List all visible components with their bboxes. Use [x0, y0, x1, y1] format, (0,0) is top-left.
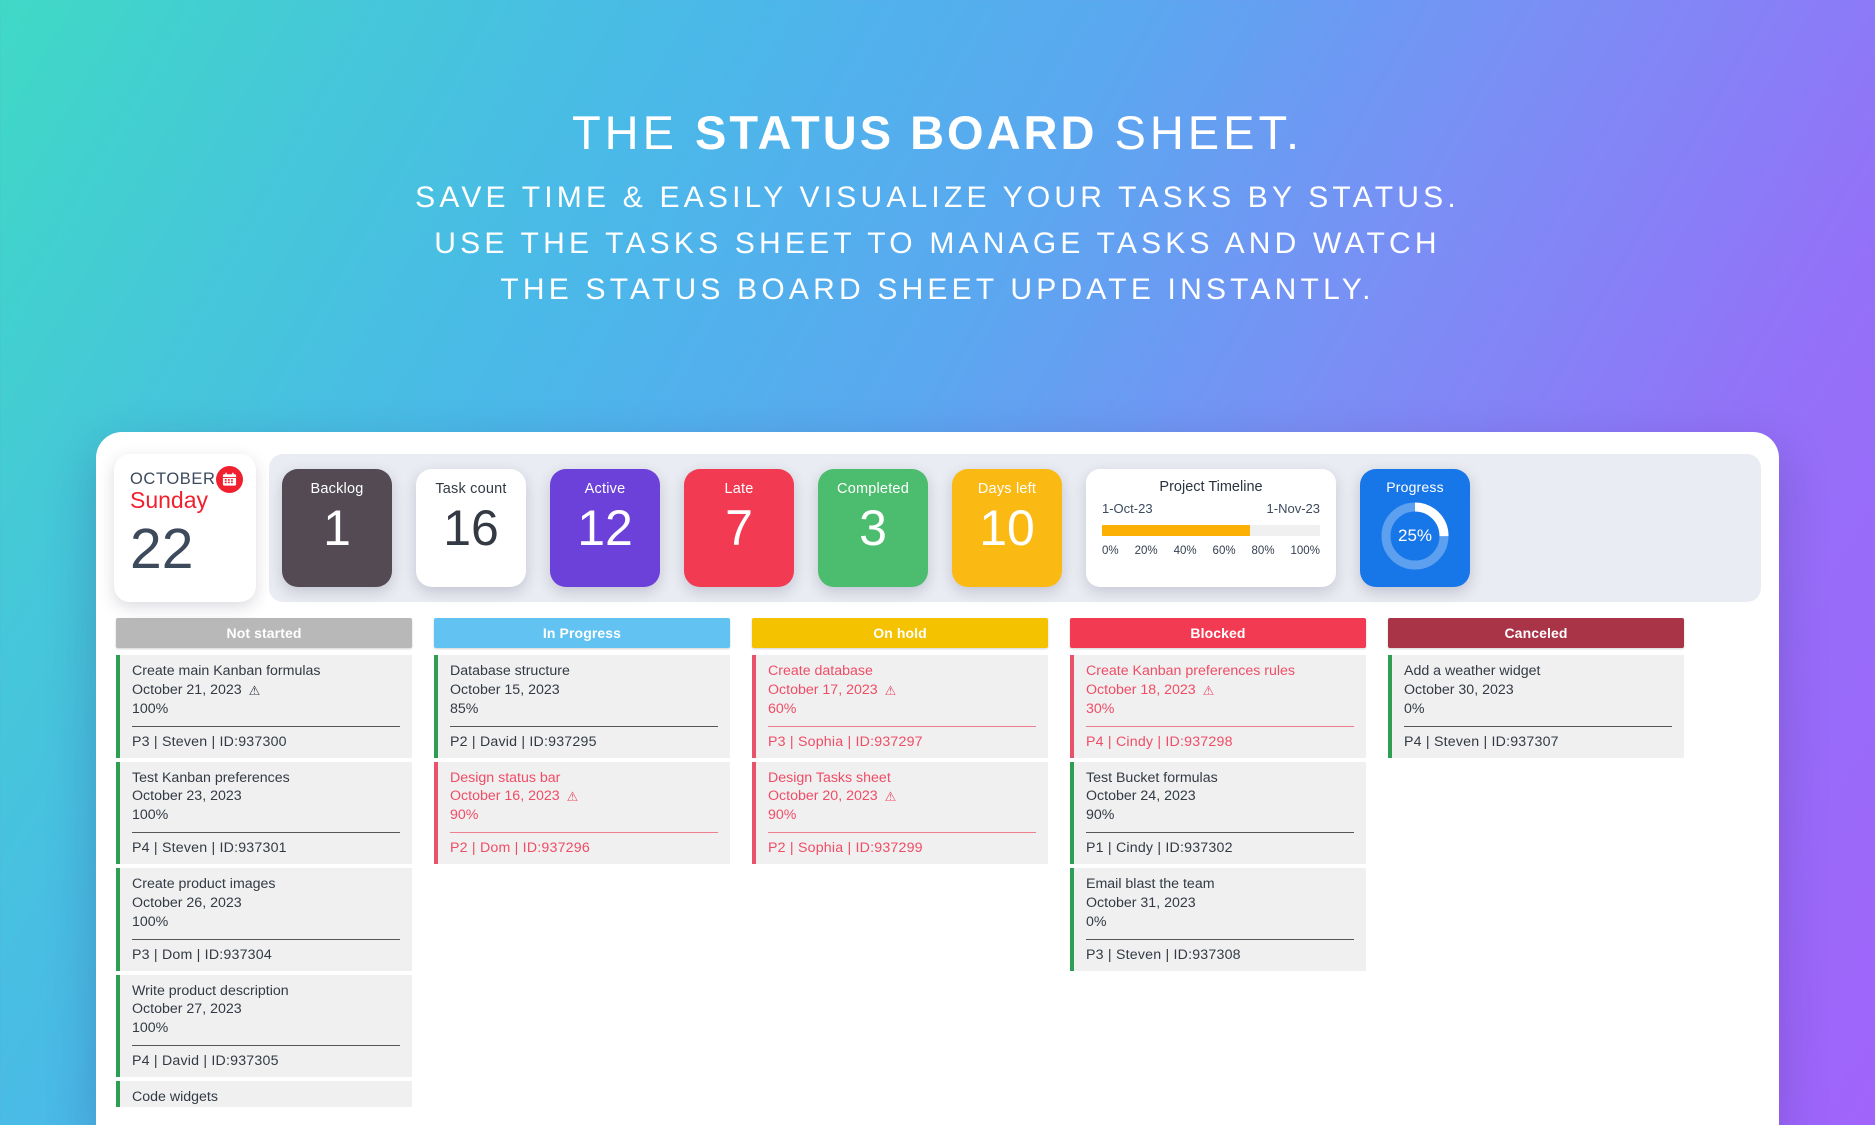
- kanban-column-body: Database structureOctober 15, 202385%P2 …: [434, 655, 730, 864]
- hero-subtitle: SAVE TIME & EASILY VISUALIZE YOUR TASKS …: [0, 175, 1875, 312]
- task-due-date: October 27, 2023: [132, 1000, 242, 1019]
- task-due-date: October 17, 2023: [768, 681, 878, 700]
- task-percent-complete: 100%: [132, 913, 400, 932]
- task-meta-sep: |: [786, 840, 798, 856]
- task-divider: [1086, 832, 1354, 833]
- task-title: Code widgets: [132, 1088, 400, 1107]
- task-card[interactable]: Create Kanban preferences rulesOctober 1…: [1070, 655, 1366, 758]
- task-priority: P2: [768, 840, 786, 856]
- task-due-date-row: October 21, 2023⚠: [132, 681, 400, 700]
- task-divider: [450, 726, 718, 727]
- kanban-column-header[interactable]: In Progress: [434, 618, 730, 648]
- task-meta: P3 | Steven | ID:937300: [132, 733, 400, 752]
- calendar-day-number: 22: [130, 522, 256, 576]
- kanban-column-body: Create Kanban preferences rulesOctober 1…: [1070, 655, 1366, 971]
- task-title: Database structure: [450, 662, 718, 681]
- kpi-card-active[interactable]: Active12: [550, 469, 660, 587]
- task-meta: P3 | Dom | ID:937304: [132, 946, 400, 965]
- hero-banner: THE STATUS BOARD SHEET. SAVE TIME & EASI…: [0, 0, 1875, 312]
- timeline-tick: 40%: [1174, 545, 1197, 557]
- kanban-column-body: Create main Kanban formulasOctober 21, 2…: [116, 655, 412, 1107]
- task-meta: P4 | Steven | ID:937301: [132, 839, 400, 858]
- kanban-column-on-hold: On holdCreate databaseOctober 17, 2023⚠6…: [752, 618, 1048, 868]
- task-id: ID:937301: [219, 840, 286, 856]
- timeline-tick: 0%: [1102, 545, 1119, 557]
- task-divider: [1404, 726, 1672, 727]
- kanban-column-header[interactable]: On hold: [752, 618, 1048, 648]
- task-percent-complete: 60%: [768, 700, 1036, 719]
- task-meta-sep: |: [207, 840, 219, 856]
- task-meta-sep: |: [843, 840, 855, 856]
- task-meta: P4 | Steven | ID:937307: [1404, 733, 1672, 752]
- timeline-tick: 80%: [1252, 545, 1275, 557]
- task-id: ID:937302: [1165, 840, 1232, 856]
- task-due-date-row: October 24, 2023: [1086, 787, 1354, 806]
- task-percent-complete: 90%: [768, 806, 1036, 825]
- task-due-date-row: October 31, 2023: [1086, 894, 1354, 913]
- task-meta-sep: |: [199, 1053, 211, 1069]
- kanban-board: Not startedCreate main Kanban formulasOc…: [96, 602, 1779, 1111]
- task-meta-sep: |: [1104, 734, 1116, 750]
- task-meta: P4 | Cindy | ID:937298: [1086, 733, 1354, 752]
- task-divider: [1086, 939, 1354, 940]
- warning-icon: ⚠: [1203, 684, 1215, 697]
- calendar-card: OCTOBER Sunday 22: [114, 454, 256, 602]
- task-id: ID:937305: [211, 1053, 278, 1069]
- task-title: Test Bucket formulas: [1086, 769, 1354, 788]
- task-id: ID:937295: [529, 734, 596, 750]
- kpi-label: Task count: [435, 481, 506, 497]
- task-card[interactable]: Database structureOctober 15, 202385%P2 …: [434, 655, 730, 758]
- task-due-date-row: October 20, 2023⚠: [768, 787, 1036, 806]
- task-owner: Steven: [1116, 947, 1161, 963]
- task-meta-sep: |: [150, 840, 162, 856]
- task-title: Add a weather widget: [1404, 662, 1672, 681]
- task-due-date-row: October 16, 2023⚠: [450, 787, 718, 806]
- task-due-date: October 16, 2023: [450, 787, 560, 806]
- timeline-title: Project Timeline: [1102, 479, 1320, 495]
- task-meta: P2 | Dom | ID:937296: [450, 839, 718, 858]
- task-priority: P3: [1086, 947, 1104, 963]
- task-due-date: October 15, 2023: [450, 681, 560, 700]
- task-owner: Steven: [162, 840, 207, 856]
- warning-icon: ⚠: [249, 684, 261, 697]
- title-strong: STATUS BOARD: [695, 106, 1097, 159]
- task-due-date: October 23, 2023: [132, 787, 242, 806]
- task-meta-sep: |: [1422, 734, 1434, 750]
- task-due-date-row: October 27, 2023: [132, 1000, 400, 1019]
- task-owner: David: [162, 1053, 199, 1069]
- task-percent-complete: 100%: [132, 806, 400, 825]
- kpi-strip: OCTOBER Sunday 22: [114, 454, 1761, 602]
- kpi-label: Active: [585, 481, 626, 497]
- task-percent-complete: 90%: [1086, 806, 1354, 825]
- kpi-value: 12: [577, 497, 633, 559]
- title-prefix: THE: [572, 106, 695, 159]
- task-owner: Cindy: [1116, 840, 1153, 856]
- task-meta: P1 | Cindy | ID:937302: [1086, 839, 1354, 858]
- kanban-column-body: Create databaseOctober 17, 2023⚠60%P3 | …: [752, 655, 1048, 864]
- warning-icon: ⚠: [567, 790, 579, 803]
- task-title: Write product description: [132, 982, 400, 1001]
- kpi-cards: Backlog1Task count16Active12Late7Complet…: [256, 469, 1761, 587]
- task-meta-sep: |: [511, 840, 523, 856]
- task-owner: David: [480, 734, 517, 750]
- task-meta: P4 | David | ID:937305: [132, 1052, 400, 1071]
- task-title: Create main Kanban formulas: [132, 662, 400, 681]
- task-due-date-row: October 26, 2023: [132, 894, 400, 913]
- task-priority: P3: [768, 734, 786, 750]
- kanban-column-blocked: BlockedCreate Kanban preferences rulesOc…: [1070, 618, 1366, 975]
- task-id: ID:937299: [856, 840, 923, 856]
- kpi-value: 7: [725, 497, 753, 559]
- task-id: ID:937308: [1173, 947, 1240, 963]
- kpi-card-late[interactable]: Late7: [684, 469, 794, 587]
- task-card[interactable]: Test Kanban preferencesOctober 23, 20231…: [116, 762, 412, 865]
- task-title: Create Kanban preferences rules: [1086, 662, 1354, 681]
- task-owner: Dom: [480, 840, 511, 856]
- task-card[interactable]: Email blast the teamOctober 31, 20230%P3…: [1070, 868, 1366, 971]
- kpi-card-completed[interactable]: Completed3: [818, 469, 928, 587]
- kpi-value: 3: [859, 497, 887, 559]
- task-divider: [768, 832, 1036, 833]
- task-due-date: October 21, 2023: [132, 681, 242, 700]
- task-due-date-row: October 15, 2023: [450, 681, 718, 700]
- task-owner: Sophia: [798, 734, 843, 750]
- task-id: ID:937296: [523, 840, 590, 856]
- task-meta-sep: |: [468, 734, 480, 750]
- kanban-column-canceled: CanceledAdd a weather widgetOctober 30, …: [1388, 618, 1684, 762]
- task-meta: P3 | Steven | ID:937308: [1086, 946, 1354, 965]
- task-id: ID:937297: [856, 734, 923, 750]
- task-title: Design status bar: [450, 769, 718, 788]
- kanban-column-header[interactable]: Blocked: [1070, 618, 1366, 648]
- task-due-date-row: October 23, 2023: [132, 787, 400, 806]
- task-title: Create product images: [132, 875, 400, 894]
- task-title: Email blast the team: [1086, 875, 1354, 894]
- kpi-label: Backlog: [311, 481, 364, 497]
- kanban-column-not-started: Not startedCreate main Kanban formulasOc…: [116, 618, 412, 1111]
- timeline-tick: 100%: [1291, 545, 1320, 557]
- task-title: Design Tasks sheet: [768, 769, 1036, 788]
- task-card[interactable]: Create databaseOctober 17, 2023⚠60%P3 | …: [752, 655, 1048, 758]
- task-meta: P2 | David | ID:937295: [450, 733, 718, 752]
- warning-icon: ⚠: [885, 790, 897, 803]
- task-priority: P4: [132, 1053, 150, 1069]
- task-priority: P2: [450, 840, 468, 856]
- project-timeline-card: Project Timeline1-Oct-231-Nov-230%20%40%…: [1086, 469, 1336, 587]
- progress-card: Progress25%: [1360, 469, 1470, 587]
- task-percent-complete: 100%: [132, 700, 400, 719]
- task-card[interactable]: Create main Kanban formulasOctober 21, 2…: [116, 655, 412, 758]
- task-card[interactable]: Add a weather widgetOctober 30, 20230%P4…: [1388, 655, 1684, 758]
- task-id: ID:937300: [219, 734, 286, 750]
- task-owner: Dom: [162, 947, 193, 963]
- timeline-start-date: 1-Oct-23: [1102, 501, 1153, 516]
- task-meta-sep: |: [193, 947, 205, 963]
- task-meta-sep: |: [150, 947, 162, 963]
- task-priority: P4: [132, 840, 150, 856]
- task-due-date: October 30, 2023: [1404, 681, 1514, 700]
- kanban-column-header[interactable]: Not started: [116, 618, 412, 648]
- kanban-column-body: Add a weather widgetOctober 30, 20230%P4…: [1388, 655, 1684, 758]
- kpi-label: Days left: [978, 481, 1036, 497]
- calendar-weekday: Sunday: [130, 487, 256, 514]
- task-meta-sep: |: [468, 840, 480, 856]
- kpi-value: 10: [979, 497, 1035, 559]
- task-meta-sep: |: [1479, 734, 1491, 750]
- task-card[interactable]: Test Bucket formulasOctober 24, 202390%P…: [1070, 762, 1366, 865]
- task-priority: P4: [1086, 734, 1104, 750]
- task-meta-sep: |: [207, 734, 219, 750]
- timeline-tick: 20%: [1135, 545, 1158, 557]
- task-due-date: October 20, 2023: [768, 787, 878, 806]
- timeline-progress-fill: [1102, 525, 1250, 536]
- hero-subtitle-line-1: SAVE TIME & EASILY VISUALIZE YOUR TASKS …: [0, 175, 1875, 221]
- kpi-card-backlog[interactable]: Backlog1: [282, 469, 392, 587]
- kpi-value: 16: [443, 497, 499, 559]
- progress-label: Progress: [1386, 479, 1444, 495]
- task-owner: Steven: [162, 734, 207, 750]
- task-meta-sep: |: [517, 734, 529, 750]
- page-title: THE STATUS BOARD SHEET.: [0, 108, 1875, 157]
- task-meta: P3 | Sophia | ID:937297: [768, 733, 1036, 752]
- task-id: ID:937304: [205, 947, 272, 963]
- task-divider: [132, 1045, 400, 1046]
- task-due-date: October 24, 2023: [1086, 787, 1196, 806]
- task-due-date: October 18, 2023: [1086, 681, 1196, 700]
- timeline-end-date: 1-Nov-23: [1267, 501, 1320, 516]
- task-percent-complete: 30%: [1086, 700, 1354, 719]
- kanban-column-in-progress: In ProgressDatabase structureOctober 15,…: [434, 618, 730, 868]
- task-priority: P1: [1086, 840, 1104, 856]
- task-priority: P2: [450, 734, 468, 750]
- task-card[interactable]: Code widgets: [116, 1081, 412, 1107]
- task-due-date: October 31, 2023: [1086, 894, 1196, 913]
- kanban-column-header[interactable]: Canceled: [1388, 618, 1684, 648]
- task-meta-sep: |: [1161, 947, 1173, 963]
- task-divider: [132, 726, 400, 727]
- kpi-label: Late: [724, 481, 753, 497]
- status-board-panel: OCTOBER Sunday 22: [96, 432, 1779, 1125]
- task-owner: Sophia: [798, 840, 843, 856]
- task-due-date-row: October 17, 2023⚠: [768, 681, 1036, 700]
- kpi-card-days-left[interactable]: Days left10: [952, 469, 1062, 587]
- kpi-value: 1: [323, 497, 351, 559]
- hero-subtitle-line-2: USE THE TASKS SHEET TO MANAGE TASKS AND …: [0, 221, 1875, 267]
- task-due-date: October 26, 2023: [132, 894, 242, 913]
- task-meta: P2 | Sophia | ID:937299: [768, 839, 1036, 858]
- kpi-card-task-count[interactable]: Task count16: [416, 469, 526, 587]
- task-id: ID:937307: [1491, 734, 1558, 750]
- task-percent-complete: 0%: [1404, 700, 1672, 719]
- task-meta-sep: |: [843, 734, 855, 750]
- task-divider: [132, 939, 400, 940]
- progress-value: 25%: [1378, 499, 1452, 573]
- task-meta-sep: |: [786, 734, 798, 750]
- timeline-progress-bar: [1102, 525, 1320, 536]
- title-suffix: SHEET.: [1097, 106, 1303, 159]
- task-meta-sep: |: [150, 734, 162, 750]
- task-due-date-row: October 30, 2023: [1404, 681, 1672, 700]
- task-percent-complete: 0%: [1086, 913, 1354, 932]
- task-meta-sep: |: [1104, 947, 1116, 963]
- task-divider: [1086, 726, 1354, 727]
- task-card[interactable]: Create product imagesOctober 26, 2023100…: [116, 868, 412, 971]
- task-meta-sep: |: [1153, 840, 1165, 856]
- task-owner: Cindy: [1116, 734, 1153, 750]
- calendar-icon: [216, 466, 243, 493]
- progress-donut: 25%: [1378, 499, 1452, 573]
- timeline-axis-ticks: 0%20%40%60%80%100%: [1102, 545, 1320, 557]
- task-due-date-row: October 18, 2023⚠: [1086, 681, 1354, 700]
- task-percent-complete: 100%: [132, 1019, 400, 1038]
- task-card[interactable]: Design status barOctober 16, 2023⚠90%P2 …: [434, 762, 730, 865]
- task-owner: Steven: [1434, 734, 1479, 750]
- kpi-label: Completed: [837, 481, 909, 497]
- task-card[interactable]: Write product descriptionOctober 27, 202…: [116, 975, 412, 1078]
- task-percent-complete: 85%: [450, 700, 718, 719]
- hero-subtitle-line-3: THE STATUS BOARD SHEET UPDATE INSTANTLY.: [0, 267, 1875, 313]
- task-meta-sep: |: [150, 1053, 162, 1069]
- task-divider: [768, 726, 1036, 727]
- task-priority: P4: [1404, 734, 1422, 750]
- task-card[interactable]: Design Tasks sheetOctober 20, 2023⚠90%P2…: [752, 762, 1048, 865]
- task-divider: [450, 832, 718, 833]
- task-id: ID:937298: [1165, 734, 1232, 750]
- warning-icon: ⚠: [885, 684, 897, 697]
- task-priority: P3: [132, 947, 150, 963]
- task-title: Test Kanban preferences: [132, 769, 400, 788]
- timeline-tick: 60%: [1213, 545, 1236, 557]
- task-divider: [132, 832, 400, 833]
- task-title: Create database: [768, 662, 1036, 681]
- task-meta-sep: |: [1104, 840, 1116, 856]
- task-priority: P3: [132, 734, 150, 750]
- task-percent-complete: 90%: [450, 806, 718, 825]
- task-meta-sep: |: [1153, 734, 1165, 750]
